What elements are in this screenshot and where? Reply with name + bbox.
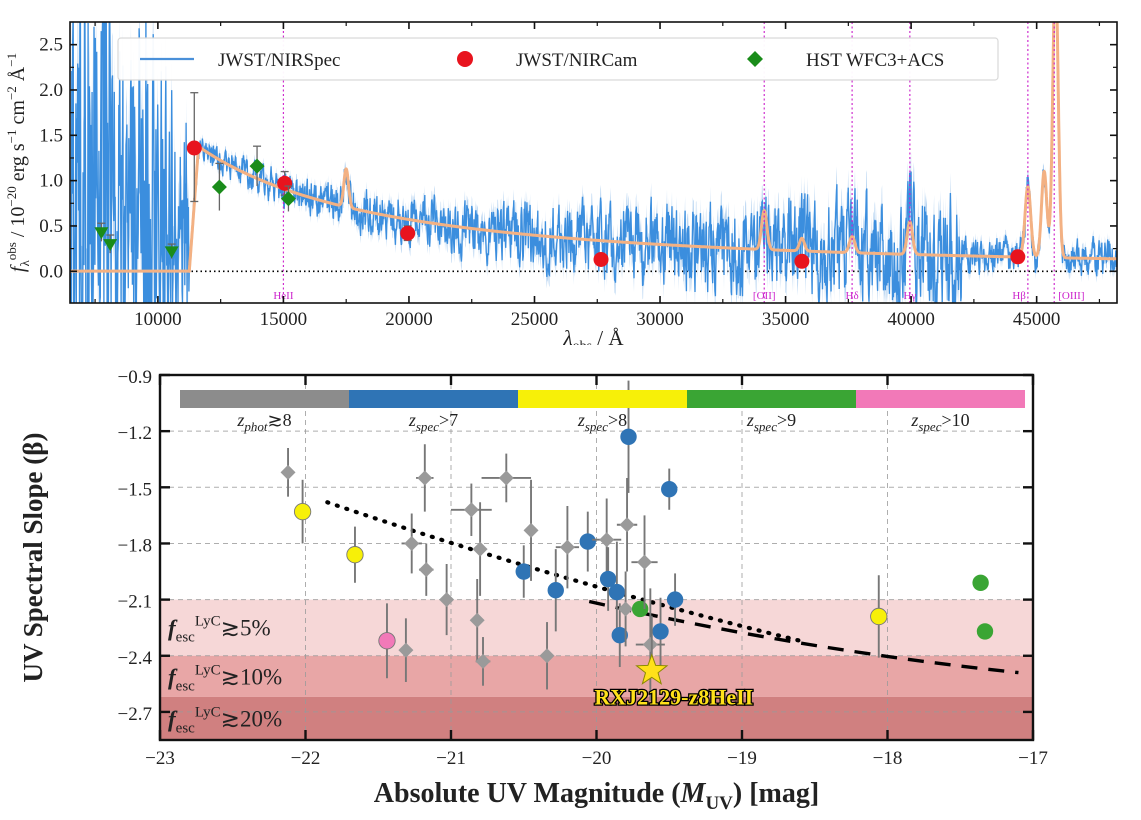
legend-label-0: JWST/NIRSpec <box>218 50 340 71</box>
x-tick-label-3: 25000 <box>511 309 559 330</box>
bx-tick-label-1: −22 <box>291 748 321 769</box>
x-tick-label-5: 35000 <box>762 309 810 330</box>
bx-tick-label-2: −21 <box>436 748 466 769</box>
scatter-point-3 <box>379 633 395 649</box>
scatter-point-31 <box>661 481 677 497</box>
emission-line-label-4: Hβ <box>1012 290 1026 302</box>
spectrum-legend: JWST/NIRSpecJWST/NIRCamHST WFC3+ACS <box>118 38 998 80</box>
spectrum-panel: HeII[OII]HδHγHβ[OIII]1000015000200002500… <box>0 0 1141 345</box>
bx-tick-label-6: −17 <box>1018 748 1048 769</box>
y-tick-label-0: 0.0 <box>39 261 63 282</box>
scatter-point-34 <box>972 575 988 591</box>
emission-line-label-3: Hγ <box>903 290 916 302</box>
x-tick-label-7: 45000 <box>1013 309 1061 330</box>
colorbar-segment-2[interactable] <box>518 390 687 408</box>
scatter-point-2 <box>347 546 363 562</box>
colorbar-segment-0[interactable] <box>180 390 349 408</box>
bx-tick-label-0: −23 <box>145 748 175 769</box>
scatter-point-19 <box>580 533 596 549</box>
colorbar-segment-4[interactable] <box>856 390 1025 408</box>
legend-label-1: JWST/NIRCam <box>516 50 638 71</box>
emission-line-label-2: Hδ <box>846 290 859 302</box>
bx-tick-label-4: −19 <box>727 748 757 769</box>
nircam-point-0 <box>187 140 202 155</box>
x-tick-label-2: 20000 <box>385 309 433 330</box>
scatter-point-30 <box>652 623 668 639</box>
x-tick-label-6: 40000 <box>887 309 935 330</box>
scatter-point-22 <box>609 584 625 600</box>
legend-label-2: HST WFC3+ACS <box>806 50 944 71</box>
nircam-point-3 <box>594 252 609 267</box>
colorbar-segment-3[interactable] <box>687 390 856 408</box>
x-tick-label-4: 30000 <box>636 309 684 330</box>
nircam-point-2 <box>400 226 415 241</box>
by-tick-label-4: −2.1 <box>118 592 152 613</box>
beta-xaxis-label: Absolute UV Magnitude (MUV) [mag] <box>374 778 819 814</box>
beta-muv-panel: fescLyC≳5%fescLyC≳10%fescLyC≳20%RXJ2129-… <box>0 340 1141 820</box>
x-tick-label-0: 10000 <box>134 309 182 330</box>
y-tick-label-4: 2.0 <box>39 80 63 101</box>
figure-root: HeII[OII]HδHγHβ[OIII]1000015000200002500… <box>0 0 1141 819</box>
y-tick-label-1: 0.5 <box>39 216 63 237</box>
emission-line-label-5: [OIII] <box>1058 290 1084 302</box>
scatter-point-35 <box>977 623 993 639</box>
scatter-point-14 <box>516 563 532 579</box>
by-tick-label-2: −1.5 <box>118 479 152 500</box>
bx-tick-label-3: −20 <box>582 748 612 769</box>
scatter-point-27 <box>632 601 648 617</box>
nircam-point-1 <box>277 176 292 191</box>
emission-line-label-1: [OII] <box>753 290 776 302</box>
beta-yaxis-label: UV Spectral Slope (β) <box>18 433 48 683</box>
by-tick-label-5: −2.4 <box>118 648 153 669</box>
colorbar-segment-1[interactable] <box>349 390 518 408</box>
by-tick-label-3: −1.8 <box>118 535 152 556</box>
beta-plot-content: fescLyC≳5%fescLyC≳10%fescLyC≳20%RXJ2129-… <box>160 375 1033 740</box>
highlight-label: RXJ2129-z8HeII <box>594 685 753 710</box>
bx-tick-label-5: −18 <box>873 748 903 769</box>
y-tick-label-3: 1.5 <box>39 125 63 146</box>
by-tick-label-1: −1.2 <box>118 423 152 444</box>
scatter-point-1 <box>294 503 310 519</box>
legend-marker-nircam <box>457 51 473 67</box>
nircam-point-4 <box>794 254 809 269</box>
scatter-point-17 <box>548 582 564 598</box>
y-tick-label-5: 2.5 <box>39 35 63 56</box>
by-tick-label-0: −0.9 <box>118 367 152 388</box>
scatter-point-26 <box>620 429 636 445</box>
scatter-point-32 <box>667 591 683 607</box>
spectrum-yaxis-label: fλobs / 10−20 erg s−1 cm−2 Å−1 <box>4 53 32 272</box>
by-tick-label-6: −2.7 <box>118 704 152 725</box>
x-tick-label-1: 15000 <box>260 309 308 330</box>
scatter-point-33 <box>871 608 887 624</box>
y-tick-label-2: 1.0 <box>39 171 63 192</box>
nircam-point-5 <box>1010 249 1025 264</box>
